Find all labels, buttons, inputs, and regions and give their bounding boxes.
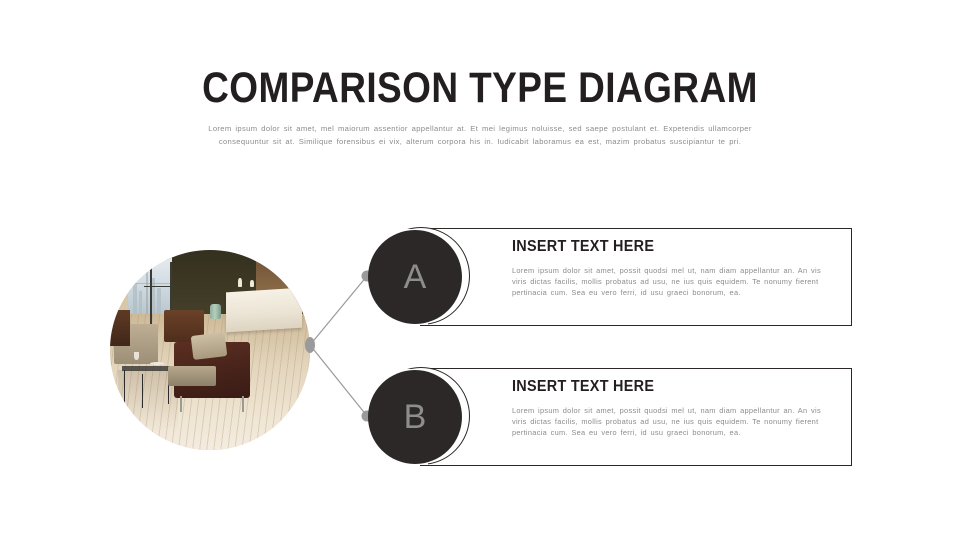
photo-chair-leg [242,396,244,412]
card-text-a: INSERT TEXT HERE Lorem ipsum dolor sit a… [512,238,832,299]
slide-subtitle: Lorem ipsum dolor sit amet, mel maiorum … [198,122,762,148]
card-body-b: Lorem ipsum dolor sit amet, possit quods… [512,405,832,439]
card-heading-a: INSERT TEXT HERE [512,238,810,256]
page-title: COMPARISON TYPE DIAGRAM [67,64,893,113]
photo-plate [150,362,164,365]
card-body-a: Lorem ipsum dolor sit amet, possit quods… [512,265,832,299]
badge-a[interactable]: A [368,230,462,324]
card-heading-b: INSERT TEXT HERE [512,378,810,396]
photo-cabinet [226,288,302,333]
photo-vase [238,278,242,287]
photo-cushion [191,332,228,360]
photo-building [139,291,142,314]
connector-line-a [310,276,367,345]
card-text-b: INSERT TEXT HERE Lorem ipsum dolor sit a… [512,378,832,439]
connector-line-b [310,345,367,416]
photo-green-cylinder [210,304,221,319]
photo-chair-seat [168,366,216,386]
badge-b[interactable]: B [368,370,462,464]
slide-canvas: COMPARISON TYPE DIAGRAM Lorem ipsum dolo… [0,0,960,540]
badge-letter-a: A [404,260,427,294]
photo-building [157,288,161,314]
photo-table-leg [142,374,143,408]
photo-table-leg [124,370,125,404]
photo-chair-leg [180,396,182,412]
interior-photo [110,250,310,450]
photo-side-table [122,366,172,371]
photo-sofa-arm [110,310,130,346]
photo-vase [250,280,254,287]
photo-content [110,250,310,450]
comparison-item-a[interactable]: A INSERT TEXT HERE Lorem ipsum dolor sit… [420,228,852,326]
badge-letter-b: B [404,400,427,434]
photo-building [133,283,137,314]
photo-window-frame [144,286,176,287]
photo-wine-glass [134,352,139,360]
comparison-item-b[interactable]: B INSERT TEXT HERE Lorem ipsum dolor sit… [420,368,852,466]
